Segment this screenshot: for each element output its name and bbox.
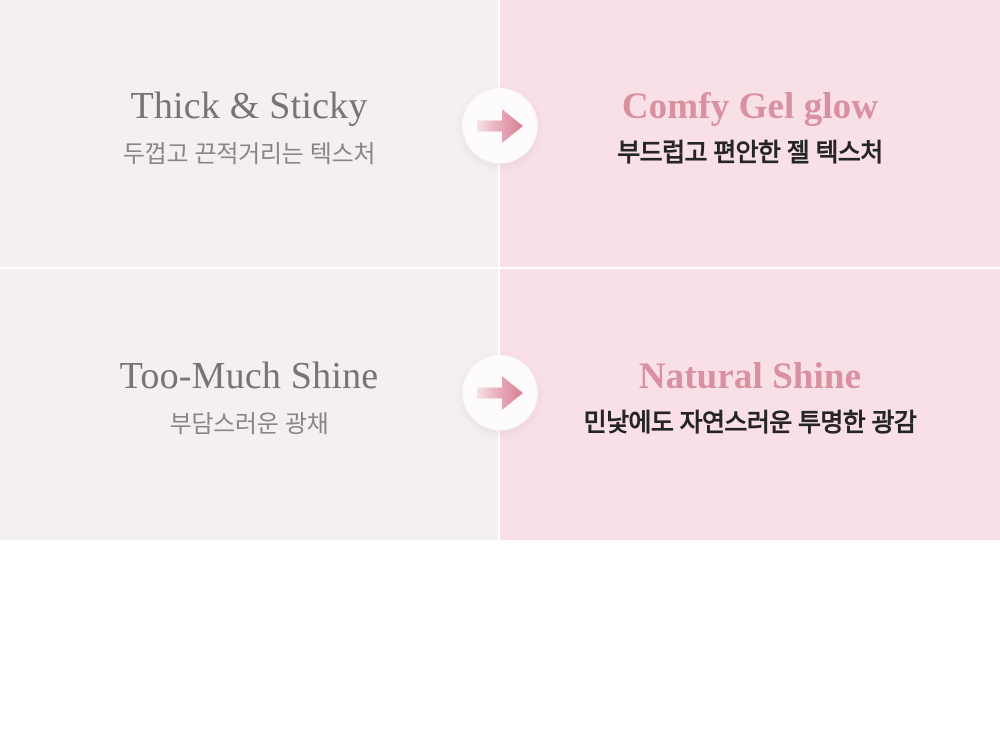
before-subtitle-row-2: 부담스러운 광채 [170, 410, 329, 440]
arrow-right-icon [477, 374, 523, 412]
after-subtitle-row-1: 부드럽고 편안한 젤 텍스처 [617, 138, 882, 169]
comparison-cell-after-row-2: Natural Shine 민낯에도 자연스러운 투명한 광감 [500, 269, 1000, 540]
text-stack: Too-Much Shine 부담스러운 광채 [120, 355, 379, 440]
page-bottom-whitespace [0, 540, 1000, 731]
after-title-row-1: Comfy Gel glow [622, 86, 878, 127]
transition-arrow-badge-row-2 [463, 356, 537, 430]
after-title-row-2: Natural Shine [639, 356, 861, 397]
text-stack: Thick & Sticky 두껍고 끈적거리는 텍스처 [123, 85, 375, 170]
after-subtitle-row-2: 민낯에도 자연스러운 투명한 광감 [584, 408, 917, 439]
comparison-cell-before-row-2: Too-Much Shine 부담스러운 광채 [0, 269, 500, 540]
comparison-cell-before-row-1: Thick & Sticky 두껍고 끈적거리는 텍스처 [0, 0, 500, 269]
before-title-row-2: Too-Much Shine [120, 355, 379, 398]
before-after-comparison-grid: Thick & Sticky 두껍고 끈적거리는 텍스처 Comfy Gel g… [0, 0, 1000, 540]
text-stack: Comfy Gel glow 부드럽고 편안한 젤 텍스처 [617, 86, 882, 169]
comparison-cell-after-row-1: Comfy Gel glow 부드럽고 편안한 젤 텍스처 [500, 0, 1000, 269]
before-title-row-1: Thick & Sticky [130, 85, 367, 128]
text-stack: Natural Shine 민낯에도 자연스러운 투명한 광감 [584, 356, 917, 439]
arrow-right-icon [477, 107, 523, 145]
before-subtitle-row-1: 두껍고 끈적거리는 텍스처 [123, 140, 375, 170]
transition-arrow-badge-row-1 [463, 89, 537, 163]
